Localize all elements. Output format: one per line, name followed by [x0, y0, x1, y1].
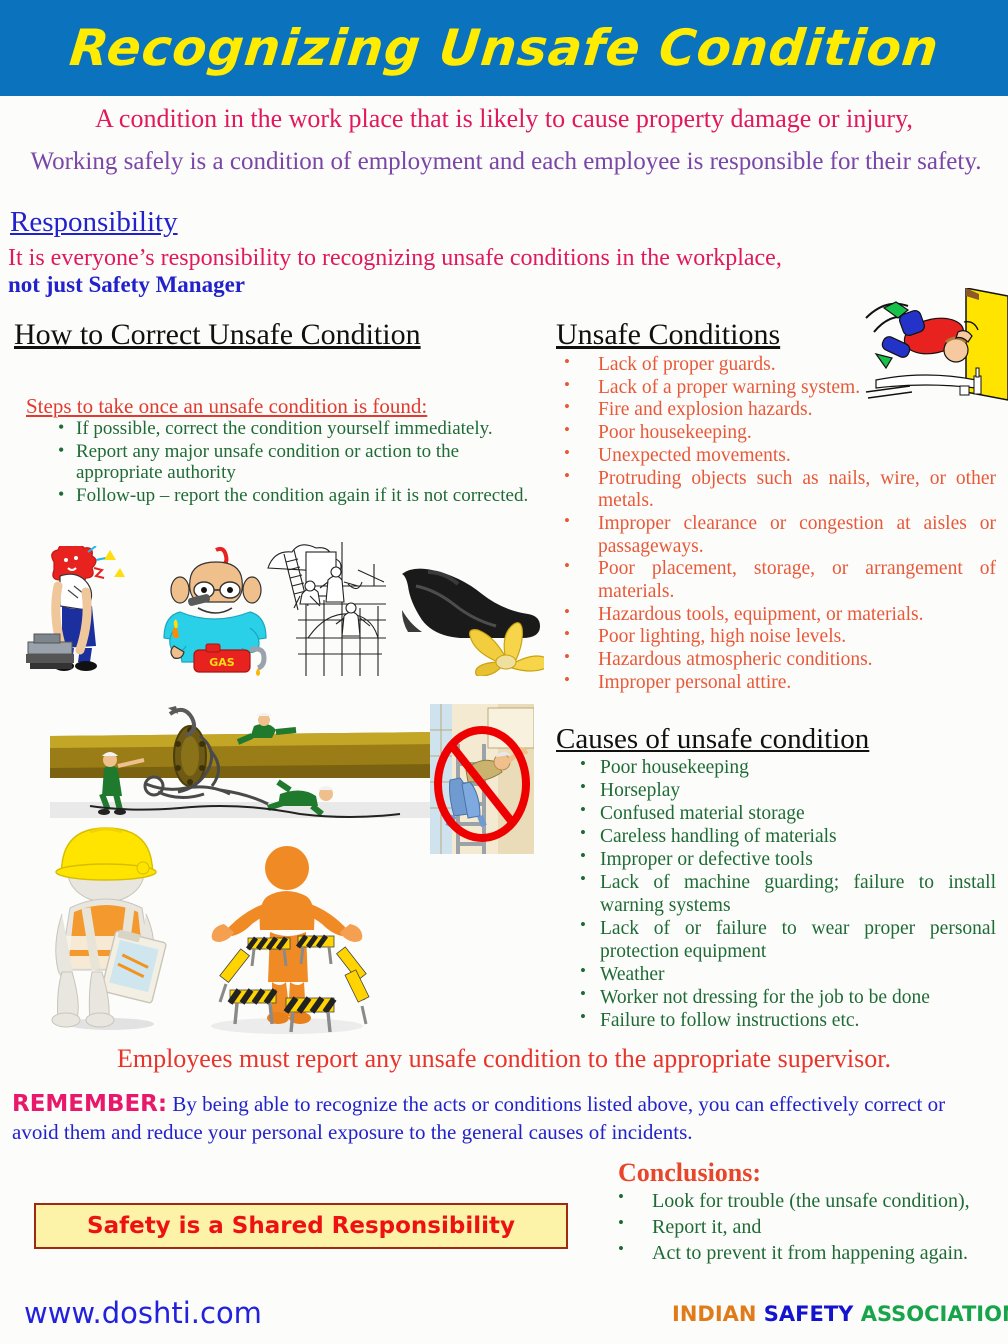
slogan-box: Safety is a Shared Responsibility [34, 1203, 568, 1249]
list-item: Hazardous atmospheric conditions. [556, 649, 996, 672]
list-item: Report it, and [612, 1214, 1008, 1240]
how-to-correct-heading: How to Correct Unsafe Condition [14, 318, 421, 352]
list-item: Look for trouble (the unsafe condition), [612, 1188, 1008, 1214]
org-word-indian: INDIAN [672, 1302, 756, 1326]
poster-header-band: Recognizing Unsafe Condition [0, 0, 1008, 96]
safety-inspector-with-clipboard-figure [40, 816, 180, 1030]
steps-subheading: Steps to take once an unsafe condition i… [26, 394, 427, 419]
remember-label: REMEMBER: [12, 1091, 167, 1117]
list-item: Horseplay [576, 779, 996, 802]
list-item: Protruding objects such as nails, wire, … [556, 468, 996, 513]
remember-paragraph: REMEMBER: By being able to recognize the… [12, 1090, 994, 1145]
list-item: Unexpected movements. [556, 445, 996, 468]
page-title: Recognizing Unsafe Condition [67, 19, 942, 77]
list-item: Hazardous tools, equipment, or materials… [556, 604, 996, 627]
list-item: Confused material storage [576, 802, 996, 825]
orange-figure-inside-barricades-figure [194, 840, 380, 1036]
steps-list: If possible, correct the condition yours… [34, 418, 538, 508]
list-item: Improper clearance or congestion at aisl… [556, 513, 996, 558]
list-item: Lack of machine guarding; failure to ins… [576, 871, 996, 917]
conclusions-heading: Conclusions: [618, 1158, 761, 1188]
man-smoking-near-gas-can-illustration: GAS [150, 546, 280, 676]
list-item: Failure to follow instructions etc. [576, 1009, 996, 1032]
website-url[interactable]: www.doshti.com [24, 1296, 262, 1330]
unsafe-scaffolding-line-drawing [262, 534, 392, 680]
list-item: Poor placement, storage, or arrangement … [556, 558, 996, 603]
list-item: Improper or defective tools [576, 848, 996, 871]
worker-hitting-thumb-with-hammer-illustration [24, 546, 144, 676]
must-report-statement: Employees must report any unsafe conditi… [0, 1044, 1008, 1074]
list-item: If possible, correct the condition yours… [58, 418, 538, 440]
list-item: Careless handling of materials [576, 825, 996, 848]
organization-name: INDIAN SAFETY ASSOCIATION [672, 1302, 1008, 1326]
prohibited-leaning-off-ladder-sign [430, 704, 534, 854]
org-word-association: ASSOCIATION [861, 1302, 1008, 1326]
list-item: Improper personal attire. [556, 672, 996, 695]
causes-list: Poor housekeeping Horseplay Confused mat… [576, 756, 996, 1032]
org-word-safety: SAFETY [764, 1302, 854, 1326]
list-item: Poor lighting, high noise levels. [556, 626, 996, 649]
responsibility-line-1: It is everyone’s responsibility to recog… [8, 245, 1000, 272]
list-item: Follow-up – report the condition again i… [58, 485, 538, 507]
responsibility-line-2: not just Safety Manager [8, 272, 245, 298]
list-item: Weather [576, 963, 996, 986]
safety-poster: Recognizing Unsafe Condition A condition… [0, 0, 1008, 1344]
list-item: Poor housekeeping [576, 756, 996, 779]
shoe-stepping-on-banana-peel-photo [398, 556, 544, 676]
intro-line-2: Working safely is a condition of employm… [22, 148, 990, 176]
responsibility-heading: Responsibility [10, 206, 178, 239]
list-item: Act to prevent it from happening again. [612, 1240, 1008, 1266]
skier-crashing-into-wall-illustration [846, 288, 1008, 408]
causes-heading: Causes of unsafe condition [556, 723, 869, 756]
svg-text:GAS: GAS [209, 656, 235, 669]
conclusions-list: Look for trouble (the unsafe condition),… [612, 1188, 1008, 1266]
list-item: Worker not dressing for the job to be do… [576, 986, 996, 1009]
intro-line-1: A condition in the work place that is li… [0, 104, 1008, 134]
list-item: Report any major unsafe condition or act… [58, 441, 538, 484]
list-item: Poor housekeeping. [556, 422, 996, 445]
slogan-text: Safety is a Shared Responsibility [87, 1213, 515, 1239]
unsafe-conditions-heading: Unsafe Conditions [556, 318, 780, 352]
list-item: Lack of or failure to wear proper person… [576, 917, 996, 963]
